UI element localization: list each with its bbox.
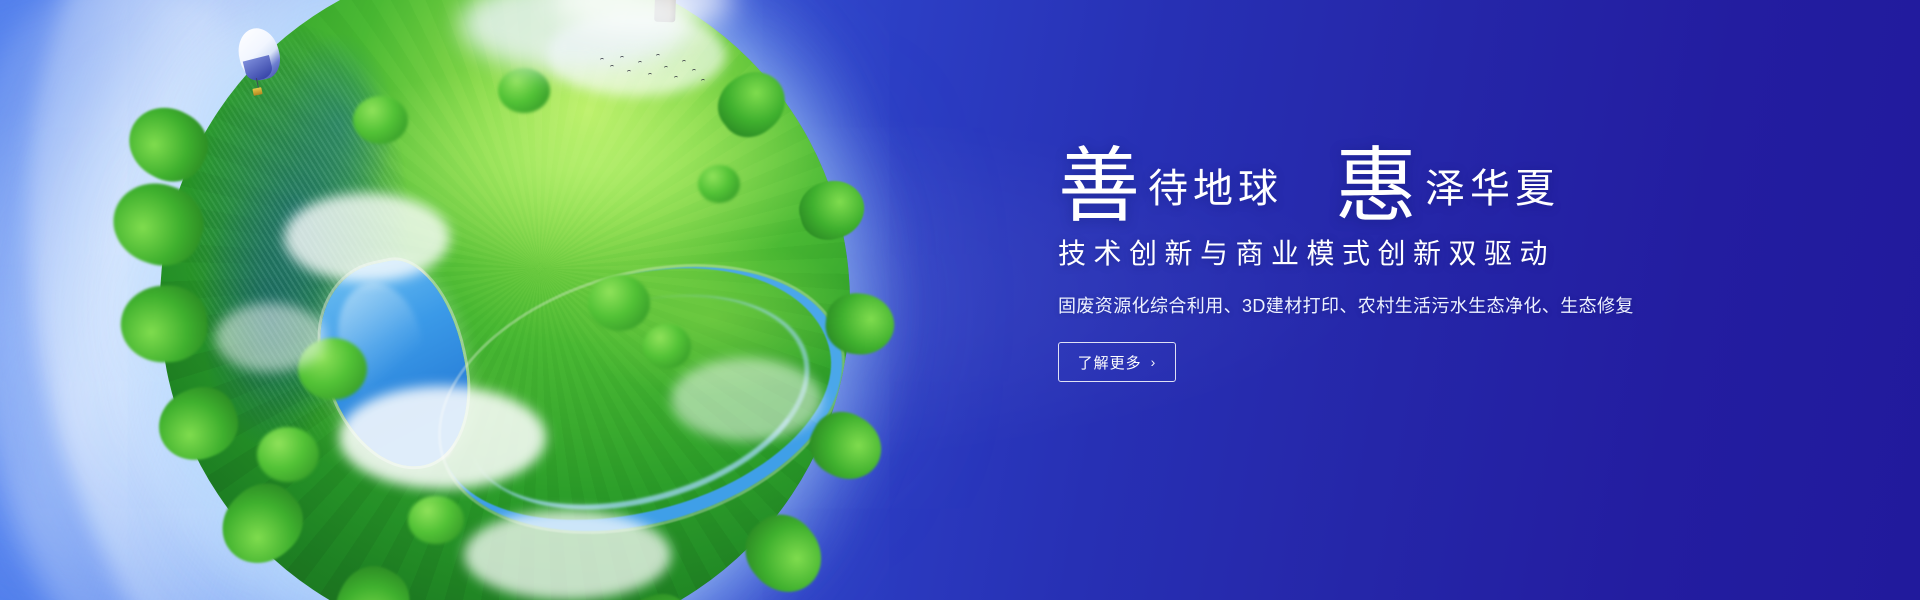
bird-icon — [682, 60, 687, 65]
bird-icon — [627, 70, 632, 75]
balloon-envelope-lower — [243, 55, 275, 83]
headline-char-hui: 惠 — [1335, 149, 1417, 224]
cloud — [464, 510, 671, 600]
headline-text-zehuaxia: 泽华夏 — [1417, 169, 1560, 220]
bird-icon — [674, 76, 679, 81]
bird-icon — [656, 54, 661, 59]
bush — [588, 275, 650, 330]
cloud — [215, 303, 325, 372]
bush — [643, 324, 691, 369]
headline-text-daidiqiu: 待地球 — [1140, 169, 1283, 220]
bush — [408, 496, 463, 544]
cloud — [339, 386, 546, 490]
subtitle: 技术创新与商业模式创新双驱动 — [1058, 232, 1758, 272]
bird-icon — [600, 58, 605, 63]
cloud — [671, 358, 823, 441]
headline-char-shan: 善 — [1058, 149, 1140, 224]
bush — [698, 165, 739, 203]
bird-icon — [701, 79, 706, 84]
learn-more-button[interactable]: 了解更多 › — [1058, 342, 1176, 382]
bird-flock — [596, 52, 716, 90]
bird-icon — [664, 66, 669, 71]
bird-icon — [692, 69, 697, 74]
hot-air-balloon — [239, 28, 279, 104]
balloon-basket — [252, 87, 262, 96]
chevron-right-icon: › — [1151, 355, 1157, 369]
bird-icon — [638, 61, 643, 66]
bush — [498, 68, 550, 113]
bird-icon — [648, 73, 653, 78]
learn-more-label: 了解更多 — [1078, 352, 1142, 373]
hero-banner: 善 待地球 惠 泽华夏 技术创新与商业模式创新双驱动 固废资源化综合利用、3D建… — [0, 0, 1920, 600]
bush — [257, 427, 319, 482]
headline: 善 待地球 惠 泽华夏 — [1058, 128, 1758, 220]
banner-copy: 善 待地球 惠 泽华夏 技术创新与商业模式创新双驱动 固废资源化综合利用、3D建… — [1058, 128, 1758, 382]
description: 固废资源化综合利用、3D建材打印、农村生活污水生态净化、生态修复 — [1058, 292, 1758, 318]
bird-icon — [620, 56, 625, 61]
cloud — [284, 193, 450, 283]
bird-icon — [610, 65, 615, 70]
